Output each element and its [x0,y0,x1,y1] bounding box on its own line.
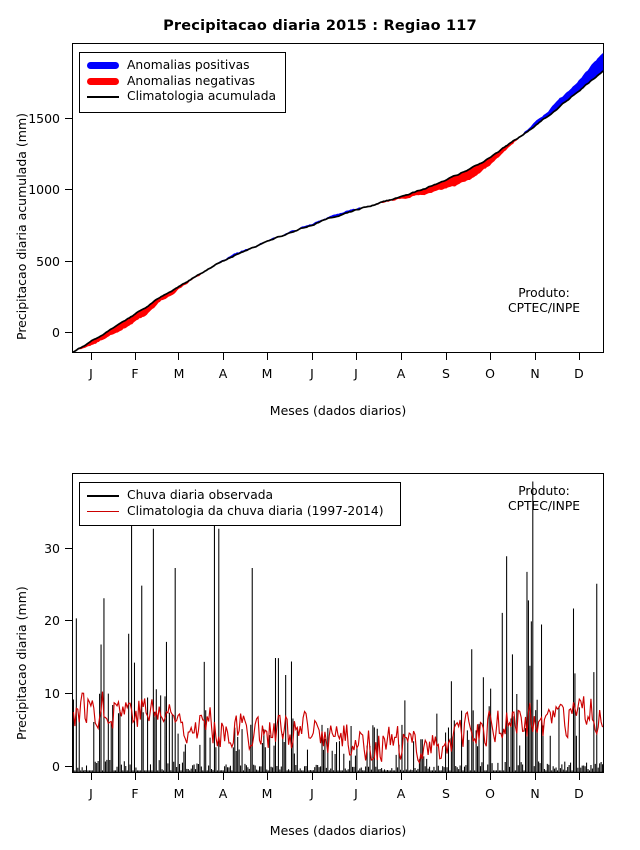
bottom-xtick-mark [267,773,268,780]
bottom-ytick-mark [65,548,72,549]
bottom-xtick-mar: M [165,786,193,801]
bottom-xtick-nov: N [521,786,549,801]
produto-line-1: Produto: [490,484,598,499]
bottom-xtick-mark [223,773,224,780]
bottom-xtick-dec: D [565,786,593,801]
produto-line-2: CPTEC/INPE [490,499,598,514]
daily-climatology-swatch [86,504,120,519]
bottom-produto-annotation: Produto: CPTEC/INPE [490,484,598,514]
legend-label: Climatologia da chuva diaria (1997-2014) [127,504,384,520]
bottom-xtick-mark [401,773,402,780]
bottom-xtick-mark [579,773,580,780]
bottom-xtick-feb: F [121,786,149,801]
bottom-xtick-mark [535,773,536,780]
bottom-xtick-sep: S [432,786,460,801]
daily-precipitation-plot [0,0,640,850]
legend-item-climatologia-chuva-diaria: Climatologia da chuva diaria (1997-2014) [86,504,392,520]
bottom-xtick-mark [135,773,136,780]
bottom-xtick-jan: J [77,786,105,801]
legend-item-chuva-diaria-observada: Chuva diaria observada [86,488,392,504]
bottom-xtick-mark [356,773,357,780]
bottom-xtick-jun: J [298,786,326,801]
bottom-x-axis-label: Meses (dados diarios) [172,823,504,838]
bottom-xtick-mark [91,773,92,780]
bottom-ytick-mark [65,693,72,694]
bottom-xtick-jul: J [342,786,370,801]
bottom-xtick-apr: A [209,786,237,801]
bottom-xtick-mark [312,773,313,780]
bottom-xtick-aug: A [387,786,415,801]
legend-label: Chuva diaria observada [127,488,273,504]
bottom-y-axis-label: Precipitacao diaria (mm) [14,586,29,740]
bottom-legend: Chuva diaria observada Climatologia da c… [79,482,401,526]
bottom-ytick-0: 0 [14,759,60,774]
bottom-ytick-30: 30 [14,541,60,556]
bottom-xtick-mark [490,773,491,780]
chart-page: Precipitacao diaria 2015 : Regiao 117 15… [0,0,640,850]
observed-rain-swatch [86,488,120,503]
bottom-xtick-oct: O [476,786,504,801]
bottom-xtick-mark [446,773,447,780]
bottom-xtick-may: M [253,786,281,801]
bottom-ytick-mark [65,766,72,767]
bottom-ytick-mark [65,620,72,621]
bottom-xtick-mark [178,773,179,780]
